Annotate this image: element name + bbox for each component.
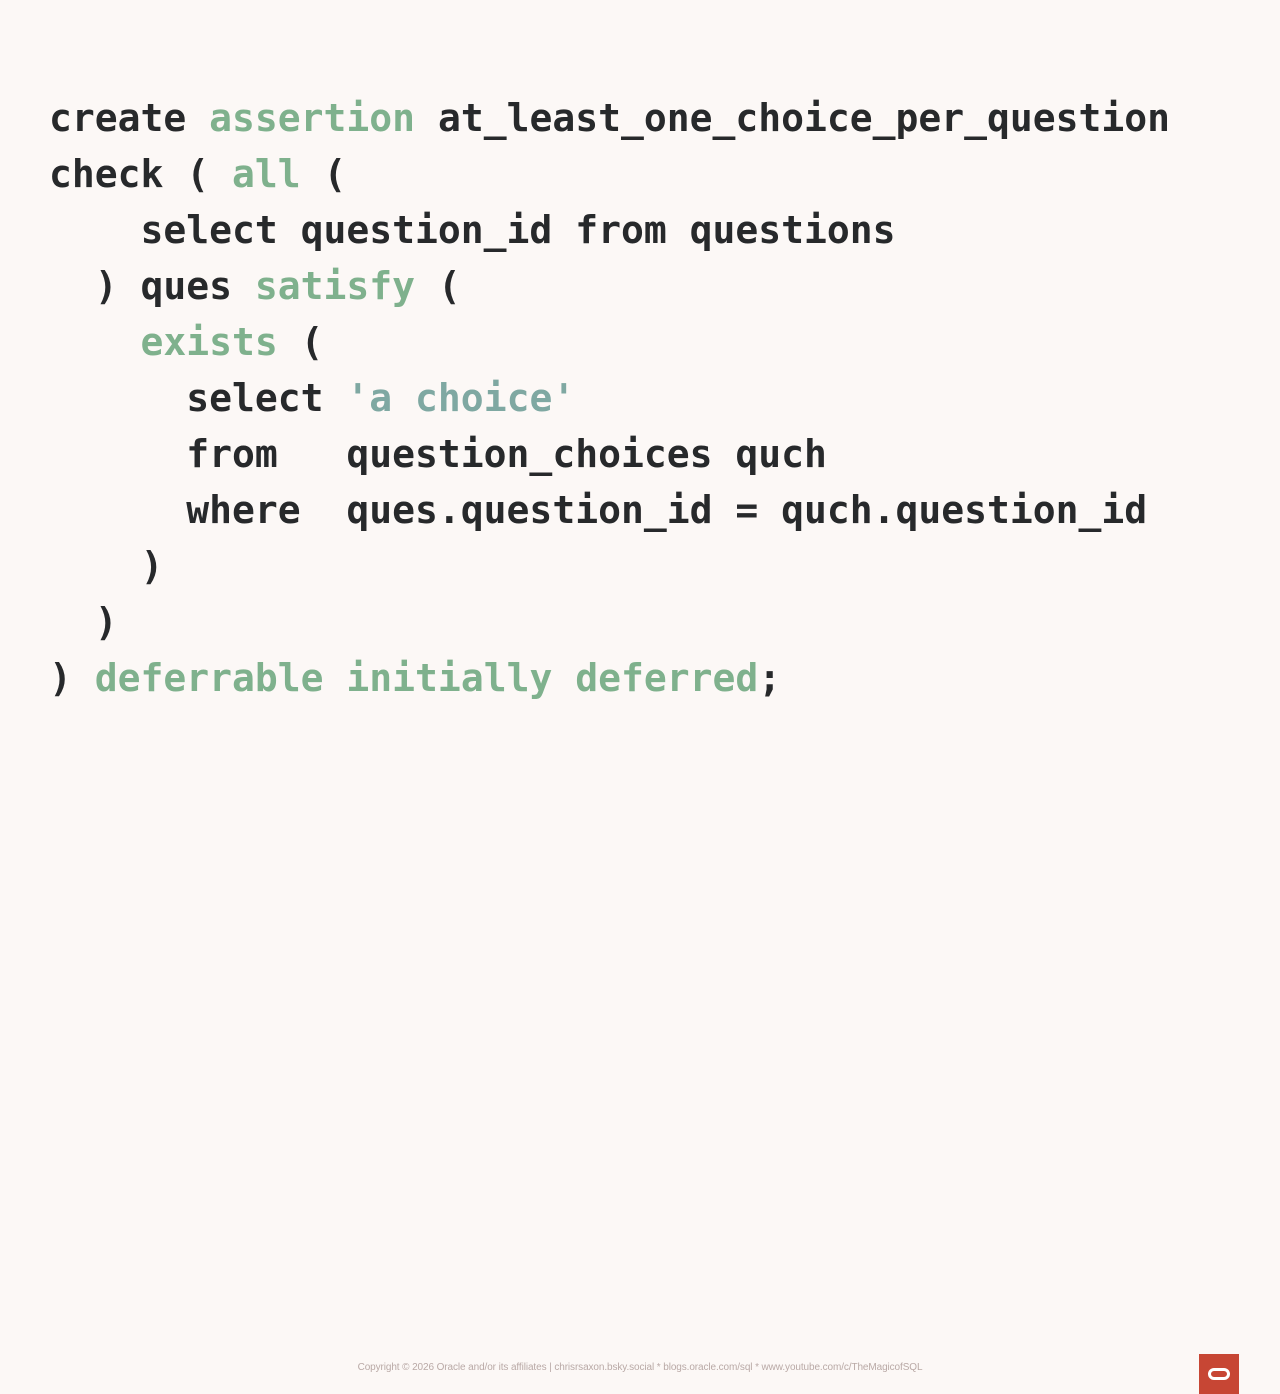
footer-bar: Copyright © 2026 Oracle and/or its affil…	[0, 676, 1280, 720]
code-token-plain: (	[278, 320, 324, 364]
sql-code-block: create assertion at_least_one_choice_per…	[49, 90, 1239, 706]
code-token-plain	[49, 320, 141, 364]
footer-copyright-text: Copyright © 2026 Oracle and/or its affil…	[0, 1362, 1280, 1374]
code-token-plain: select question_id from questions	[49, 208, 895, 252]
code-token-kw: assertion	[209, 96, 415, 140]
code-line: select 'a choice'	[49, 370, 1239, 426]
code-line: check ( all (	[49, 146, 1239, 202]
code-token-plain: from question_choices quch	[49, 432, 827, 476]
slide-canvas: create assertion at_least_one_choice_per…	[0, 0, 1280, 720]
code-token-plain: at_least_one_choice_per_question	[415, 96, 1170, 140]
code-token-plain: )	[49, 600, 118, 644]
code-token-kw: all	[232, 152, 301, 196]
code-line: ) ques satisfy (	[49, 258, 1239, 314]
code-token-plain: )	[49, 544, 163, 588]
code-token-plain: select	[49, 376, 346, 420]
code-line: create assertion at_least_one_choice_per…	[49, 90, 1239, 146]
code-line: select question_id from questions	[49, 202, 1239, 258]
code-line: where ques.question_id = quch.question_i…	[49, 482, 1239, 538]
oracle-logo	[1199, 1354, 1239, 1394]
code-token-plain: ) ques	[49, 264, 255, 308]
code-line: )	[49, 538, 1239, 594]
code-token-plain: check (	[49, 152, 232, 196]
code-token-kw: exists	[141, 320, 278, 364]
code-token-plain: where ques.question_id = quch.question_i…	[49, 488, 1147, 532]
code-token-kw: satisfy	[255, 264, 415, 308]
code-token-str: 'a choice'	[346, 376, 575, 420]
code-line: from question_choices quch	[49, 426, 1239, 482]
code-token-plain: (	[301, 152, 347, 196]
oracle-o-icon	[1208, 1368, 1230, 1380]
code-token-plain: create	[49, 96, 209, 140]
code-token-plain: (	[415, 264, 461, 308]
code-line: )	[49, 594, 1239, 650]
code-line: exists (	[49, 314, 1239, 370]
